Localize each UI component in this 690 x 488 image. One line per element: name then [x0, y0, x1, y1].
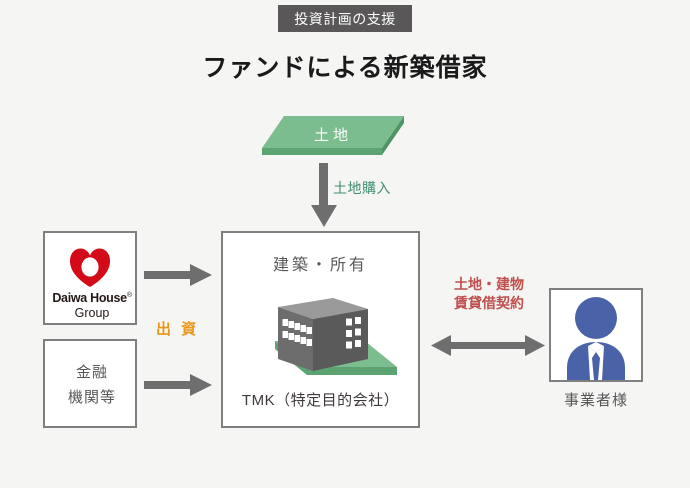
land-plate: 土地	[262, 116, 404, 160]
daiwa-house-wordmark-text: Daiwa House	[52, 291, 127, 305]
finance-investment-arrow	[144, 372, 214, 398]
finance-box-label-line1: 金融	[45, 361, 139, 386]
lease-contract-label-line2: 賃貸借契約	[430, 294, 548, 313]
finance-box-label: 金融 機関等	[45, 361, 139, 411]
page-title: ファンドによる新築借家	[0, 48, 690, 84]
businessperson-icon	[551, 290, 641, 380]
land-purchase-label: 土地購入	[333, 178, 391, 198]
building-on-land-icon	[245, 293, 397, 385]
header-badge: 投資計画の支援	[278, 5, 412, 32]
lease-contract-label-line1: 土地・建物	[430, 275, 548, 294]
daiwa-house-wordmark: Daiwa House®	[45, 291, 139, 305]
diagram-canvas: 投資計画の支援 ファンドによる新築借家 土地 土地購入 Daiwa House®…	[0, 0, 690, 488]
finance-box-label-line2: 機関等	[45, 386, 139, 411]
tmk-heading: 建築・所有	[223, 251, 418, 275]
registered-mark-icon: ®	[127, 292, 132, 299]
lease-contract-label: 土地・建物 賃貸借契約	[430, 275, 548, 313]
operator-box	[549, 288, 643, 382]
investment-label: 出 資	[156, 318, 199, 339]
operator-caption: 事業者様	[549, 389, 643, 410]
tmk-box: 建築・所有	[221, 231, 420, 428]
daiwa-house-subword: Group	[45, 306, 139, 320]
arrow-right-icon	[144, 372, 214, 398]
tmk-caption: TMK（特定目的会社）	[223, 389, 418, 410]
arrow-left-right-icon	[429, 333, 547, 359]
land-plate-label: 土地	[262, 124, 404, 145]
daiwa-house-logo-icon	[69, 247, 111, 289]
arrow-right-icon	[144, 262, 214, 288]
daiwa-house-box: Daiwa House® Group	[43, 231, 137, 325]
finance-box: 金融 機関等	[43, 339, 137, 428]
lease-arrow	[429, 333, 547, 359]
daiwa-investment-arrow	[144, 262, 214, 288]
